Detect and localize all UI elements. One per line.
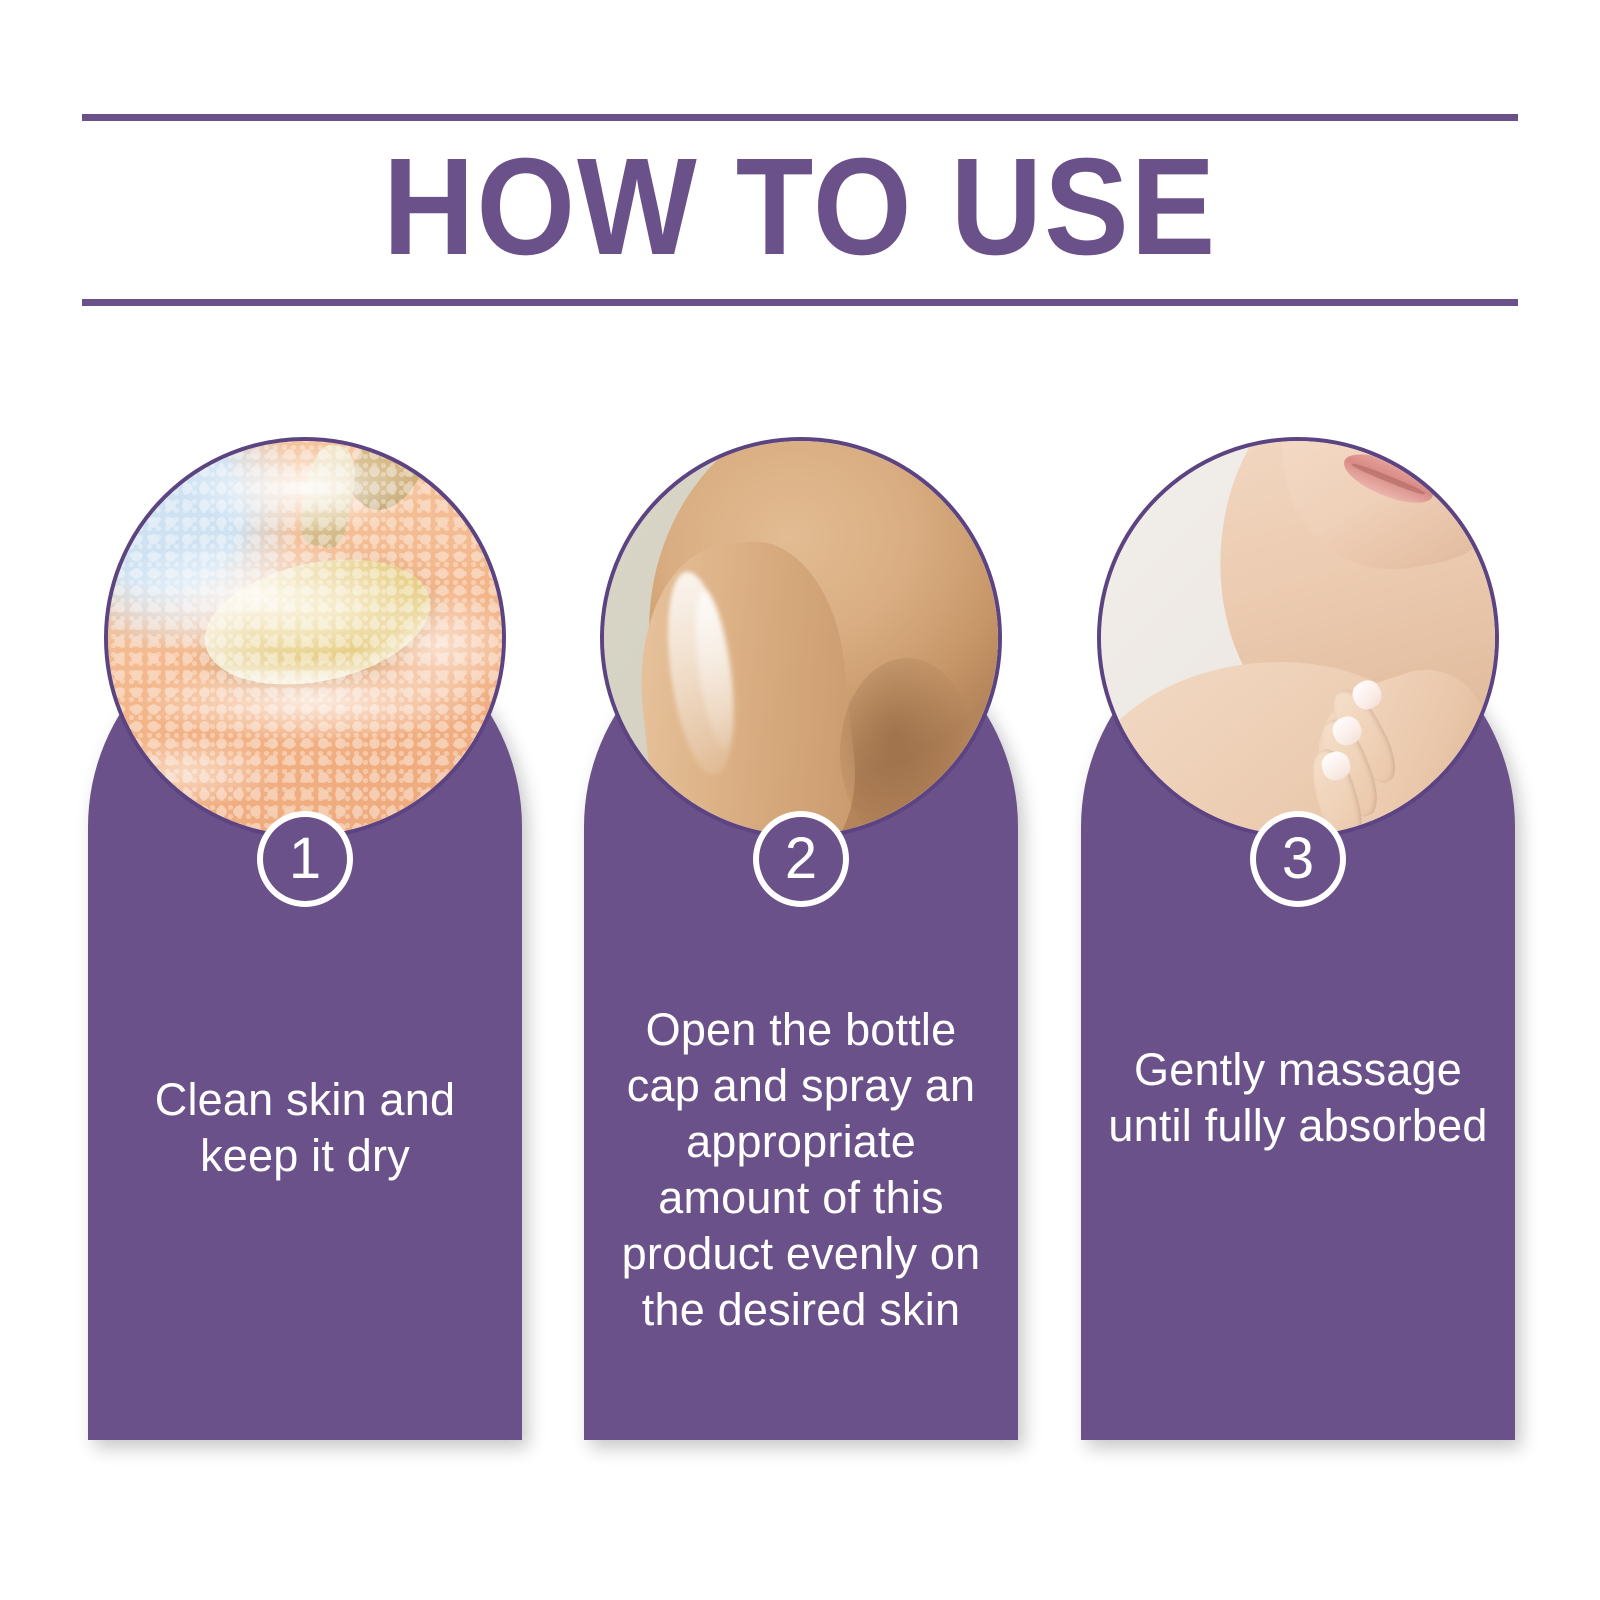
hand-massaging-neck-collarbone-photo <box>1101 441 1495 835</box>
step-photo-2 <box>600 437 1002 839</box>
steps-container: 1 Clean skin and keep it dry 2 Ope <box>88 437 1514 1447</box>
step-photo-1 <box>104 437 506 839</box>
step-number-badge-3: 3 <box>1250 811 1346 907</box>
step-card-2: 2 Open the bottle cap and spray an appro… <box>584 437 1018 1440</box>
step-caption-1: Clean skin and keep it dry <box>110 1072 500 1184</box>
step-photo-3 <box>1097 437 1499 839</box>
step-number-badge-2: 2 <box>753 811 849 907</box>
step-card-1: 1 Clean skin and keep it dry <box>88 437 522 1440</box>
step-card-3: 3 Gently massage until fully absorbed <box>1081 437 1515 1440</box>
step-caption-2: Open the bottle cap and spray an appropr… <box>606 1002 996 1338</box>
step-number-3: 3 <box>1282 830 1314 888</box>
photo1-bubbles <box>108 441 502 835</box>
page-title: HOW TO USE <box>139 122 1460 292</box>
step-number-badge-1: 1 <box>257 811 353 907</box>
step-number-2: 2 <box>785 830 817 888</box>
sudsy-loofah-washing-skin-photo <box>108 441 502 835</box>
title-rule-top <box>82 114 1518 121</box>
title-rule-bottom <box>82 299 1518 306</box>
step-caption-3: Gently massage until fully absorbed <box>1103 1042 1493 1154</box>
step-number-1: 1 <box>289 830 321 888</box>
header: HOW TO USE <box>82 114 1518 306</box>
glossy-shoulder-skin-photo <box>604 441 998 835</box>
how-to-use-infographic: HOW TO USE 1 Clean skin and keep it dr <box>0 0 1600 1600</box>
